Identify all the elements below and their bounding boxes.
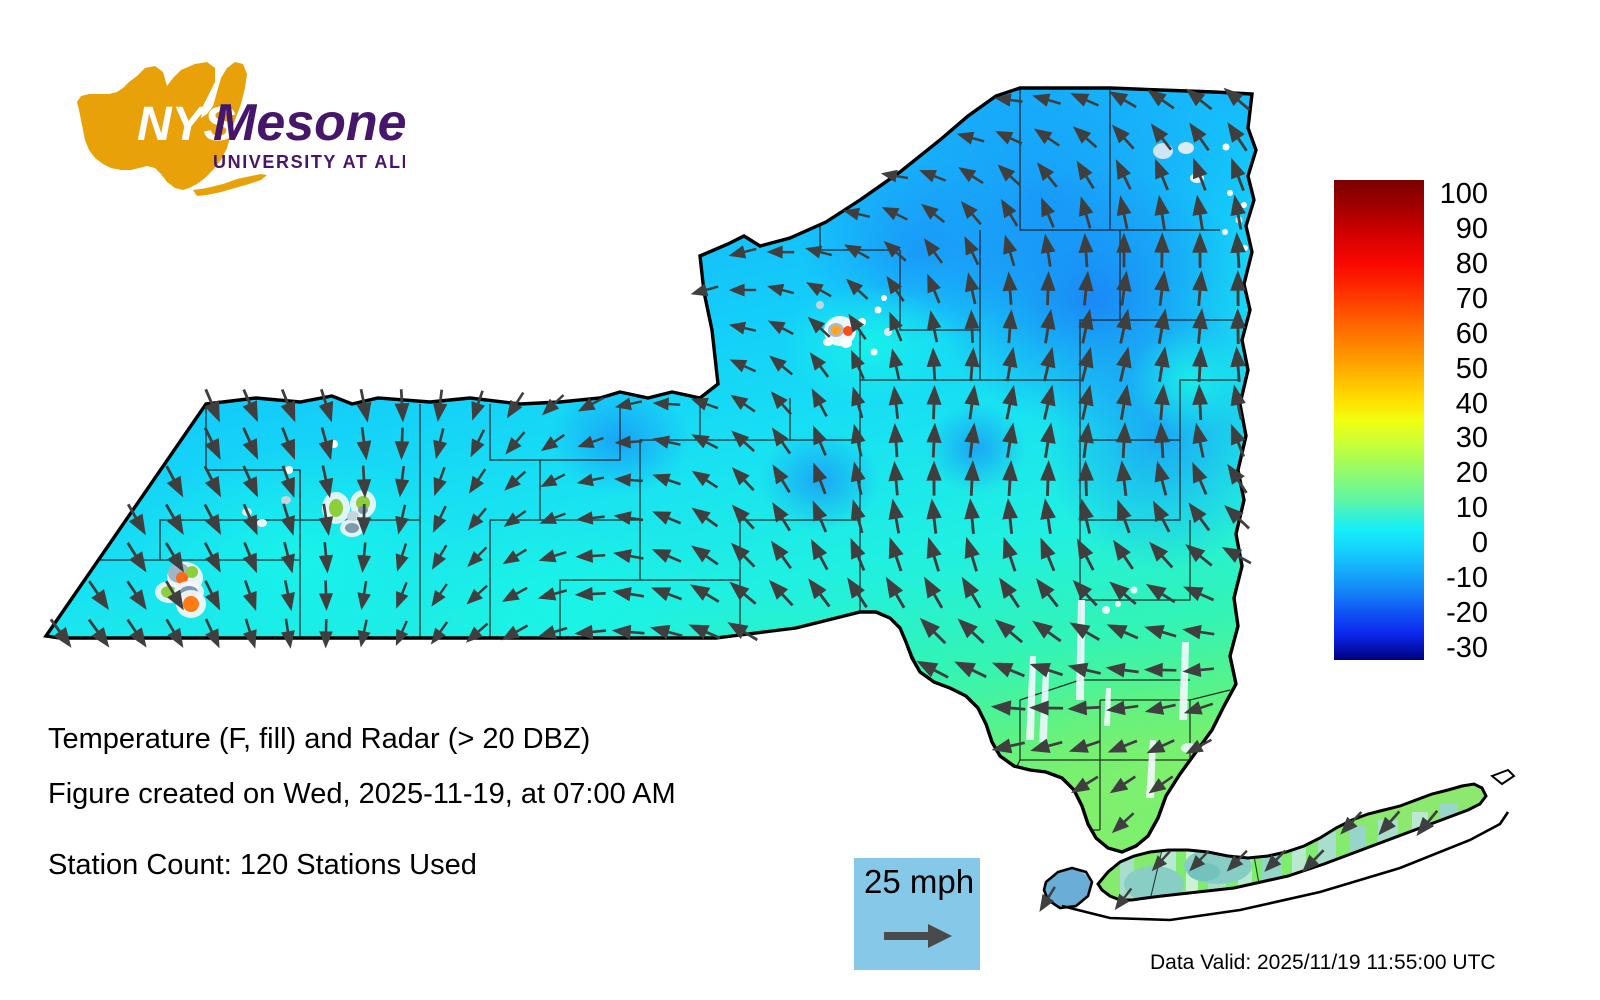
- colorbar-gradient: [1334, 180, 1424, 660]
- wind-arrow-icon: [882, 920, 954, 952]
- map-title-caption: Temperature (F, fill) and Radar (> 20 DB…: [48, 724, 590, 754]
- colorbar-tick-80: 80: [1428, 250, 1488, 279]
- temperature-colorbar: [1334, 180, 1424, 660]
- colorbar-tick-90: 90: [1428, 215, 1488, 244]
- colorbar-tick--10: -10: [1428, 564, 1488, 593]
- colorbar-tick--30: -30: [1428, 634, 1488, 663]
- warm-spot-oneida: [780, 285, 960, 405]
- colorbar-tick-40: 40: [1428, 390, 1488, 419]
- figure-created-caption: Figure created on Wed, 2025-11-19, at 07…: [48, 779, 676, 809]
- colorbar-tick-50: 50: [1428, 355, 1488, 384]
- colorbar-tick-labels: 1009080706050403020100-10-20-30: [1428, 180, 1508, 660]
- data-valid-timestamp: Data Valid: 2025/11/19 11:55:00 UTC: [1150, 952, 1496, 974]
- wind-legend-label: 25 mph: [864, 864, 974, 900]
- colorbar-tick-60: 60: [1428, 320, 1488, 349]
- colorbar-tick-30: 30: [1428, 424, 1488, 453]
- wind-speed-legend: 25 mph: [854, 858, 980, 970]
- block-island-shape: [1492, 770, 1514, 784]
- colorbar-tick-10: 10: [1428, 494, 1488, 523]
- station-count-caption: Station Count: 120 Stations Used: [48, 850, 477, 880]
- colorbar-tick--20: -20: [1428, 599, 1488, 628]
- colorbar-tick-100: 100: [1428, 180, 1488, 209]
- colorbar-tick-70: 70: [1428, 285, 1488, 314]
- colorbar-tick-20: 20: [1428, 459, 1488, 488]
- colorbar-tick-0: 0: [1428, 529, 1488, 558]
